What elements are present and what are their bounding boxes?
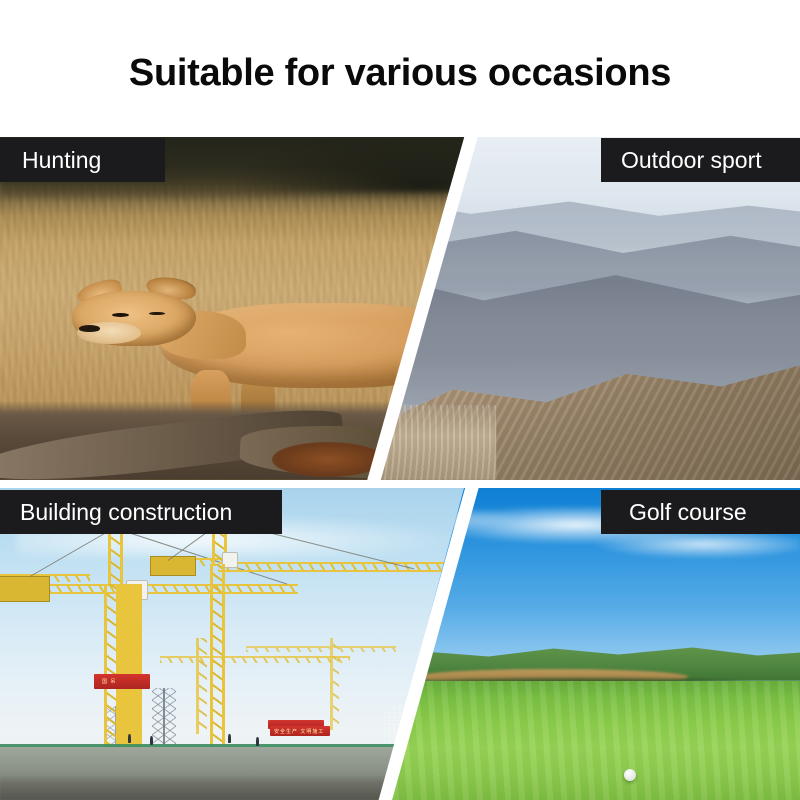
crane-3-mast (196, 638, 207, 734)
crane-1-mast (104, 584, 142, 754)
label-hunting-text: Hunting (22, 147, 101, 174)
label-golf-course-text: Golf course (629, 499, 747, 526)
site-banner-2-text: 安全生产 文明施工 (274, 728, 324, 735)
label-building-construction[interactable]: Building construction (0, 490, 282, 534)
row-gap (0, 480, 800, 488)
page-title: Suitable for various occasions (0, 52, 800, 95)
top-row: Hunting Outdoor sport (0, 137, 800, 480)
worker-4 (256, 737, 259, 746)
golf-ball (624, 769, 636, 781)
label-building-construction-text: Building construction (20, 499, 232, 526)
label-golf-course[interactable]: Golf course (601, 490, 800, 534)
label-hunting[interactable]: Hunting (0, 138, 165, 182)
crane-1-banner: 国 吊 (94, 674, 150, 689)
worker-3 (228, 734, 231, 743)
crane-1-jib (8, 584, 298, 594)
crane-1-counterweight (0, 576, 50, 602)
crane-2-counterweight (150, 556, 196, 576)
crane-1-banner-text: 国 吊 (102, 678, 116, 685)
crane-4-mast (330, 638, 339, 730)
power-pylon-1 (152, 688, 176, 744)
driftwood-knot (272, 442, 384, 476)
worker-2 (150, 736, 153, 745)
promo-poster: Suitable for various occasions (0, 0, 800, 800)
label-outdoor-sport-text: Outdoor sport (621, 147, 762, 174)
site-banner-2: 安全生产 文明施工 (270, 726, 330, 736)
crane-2-mast (210, 564, 225, 746)
bottom-row: 国 吊 (0, 488, 800, 800)
worker-1 (128, 734, 131, 743)
label-outdoor-sport[interactable]: Outdoor sport (601, 138, 800, 182)
crane-3-jib (160, 656, 350, 663)
crane-4-jib (246, 646, 396, 652)
